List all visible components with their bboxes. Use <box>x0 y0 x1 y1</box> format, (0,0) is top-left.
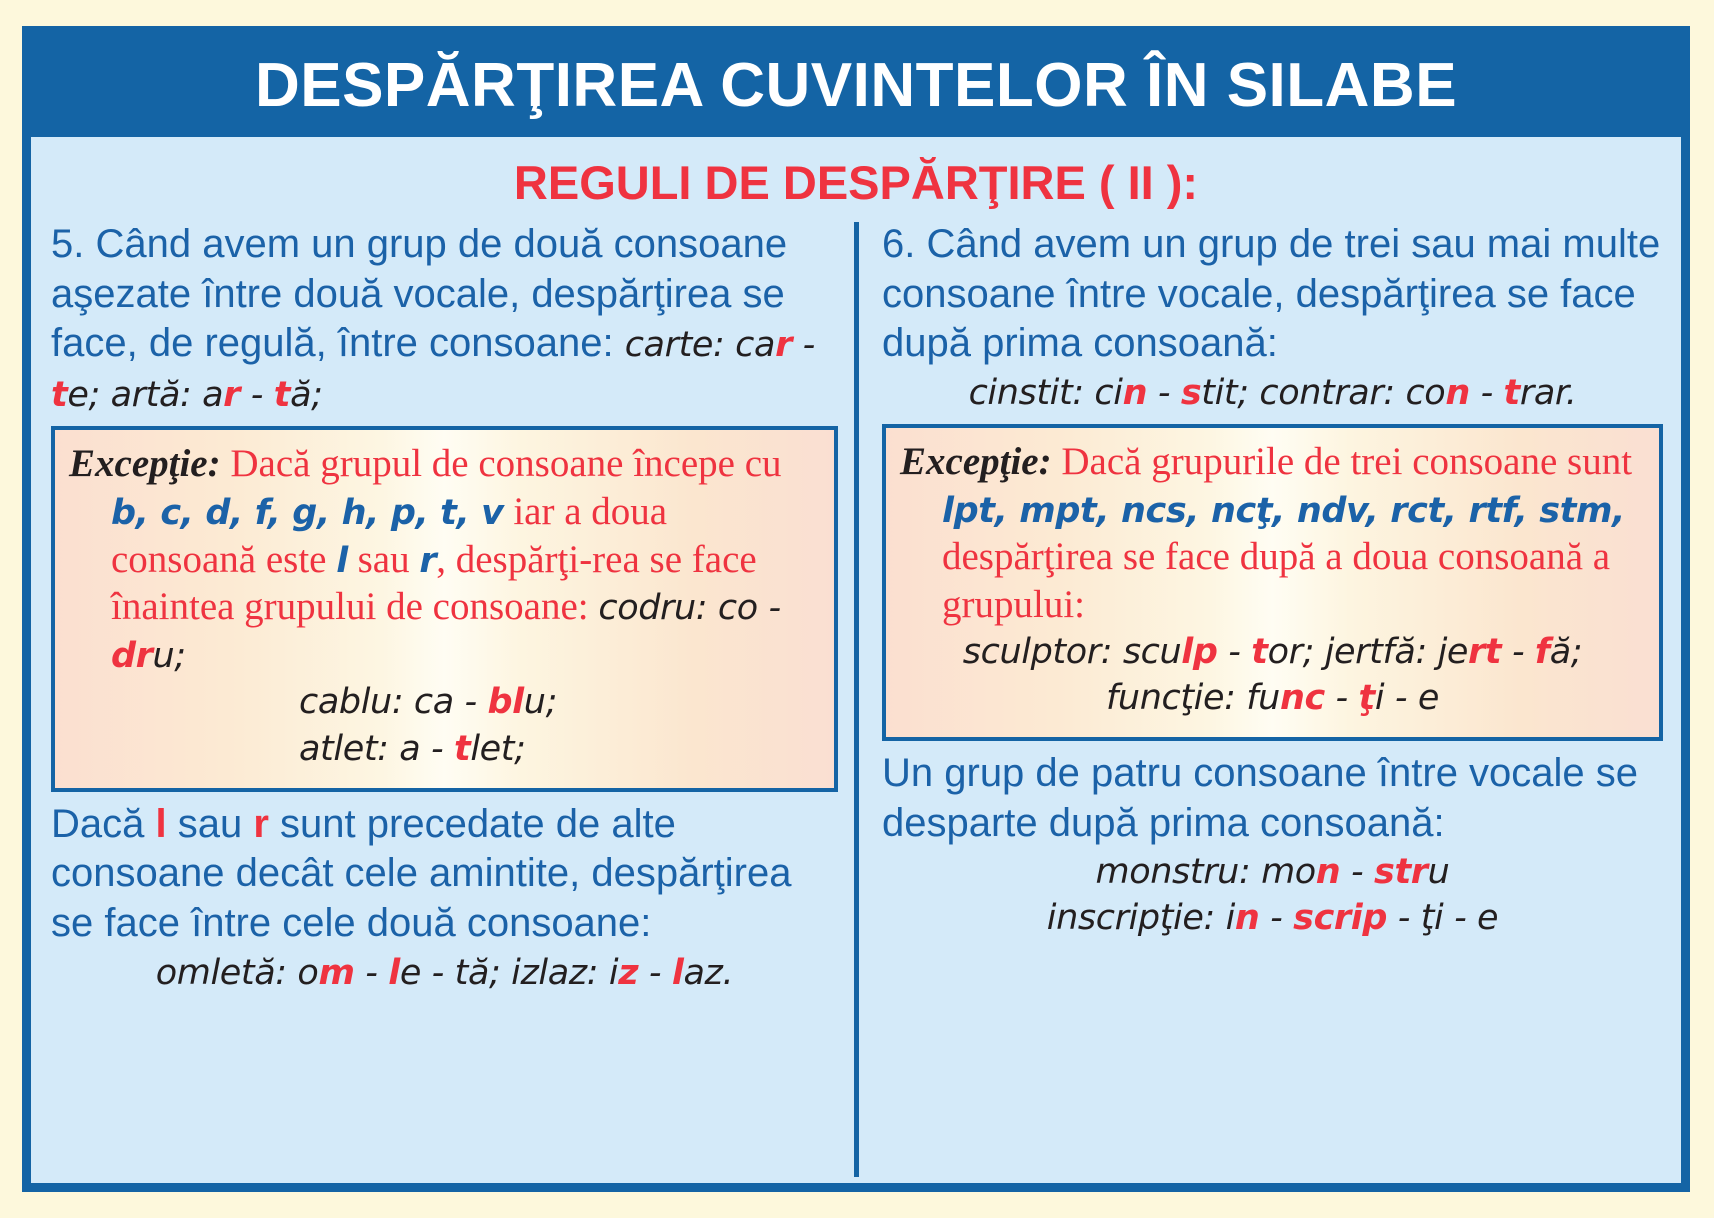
right-exception-example-2: funcţie: func - ţi - e <box>900 675 1645 721</box>
left-exception-example-2: cablu: ca - blu; <box>299 679 820 725</box>
hl-consonant-r: r <box>253 802 269 846</box>
left-exception-example-1: codru: co - dru; <box>111 588 781 676</box>
consonant-l: l <box>336 541 348 581</box>
left-exception-consonants: b, c, d, f, g, h, p, t, v <box>111 493 504 533</box>
poster-frame: DESPĂRŢIREA CUVINTELOR ÎN SILABE REGULI … <box>22 26 1690 1192</box>
left-rule-5-text: 5. Când avem un grup de două consoane aş… <box>51 220 838 418</box>
right-rule-secondary-text: Un grup de patru consoane între vocale s… <box>882 749 1663 848</box>
hl-consonant-l: l <box>156 802 167 846</box>
subtitle: REGULI DE DESPĂRŢIRE ( II ): <box>31 137 1681 216</box>
left-example-inline: carte: car - te; artă: ar - tă; <box>51 325 815 415</box>
left-rule-secondary-text: Dacă l sau r sunt precedate de alte cons… <box>51 800 838 949</box>
right-example-line-1: cinstit: cin - stit; contrar: con - trar… <box>882 371 1663 417</box>
content-columns: 5. Când avem un grup de două consoane aş… <box>31 216 1681 1183</box>
right-exception-text: Excepţie: Dacă grupurile de trei consoan… <box>900 438 1645 628</box>
right-column: 6. Când avem un grup de trei sau mai mul… <box>856 220 1681 1183</box>
right-rule-6-text: 6. Când avem un grup de trei sau mai mul… <box>882 220 1663 369</box>
left-exception-text: Excepţie: Dacă grupul de consoane începe… <box>69 440 820 679</box>
left-example-line-2: omletă: om - le - tă; izlaz: iz - laz. <box>51 951 838 997</box>
left-exception-example-3: atlet: a - tlet; <box>299 726 820 772</box>
right-example-line-3: inscripţie: in - scrip - ţi - e <box>882 896 1663 942</box>
left-exception-box: Excepţie: Dacă grupul de consoane începe… <box>51 426 838 791</box>
right-example-line-2: monstru: mon - stru <box>882 850 1663 896</box>
left-exception-label: Excepţie: <box>69 442 221 485</box>
right-exception-box: Excepţie: Dacă grupurile de trei consoan… <box>882 424 1663 741</box>
right-exception-example-1: sculptor: sculp - tor; jertfă: jert - fă… <box>900 629 1645 675</box>
left-column: 5. Când avem un grup de două consoane aş… <box>31 220 856 1183</box>
right-exception-consonant-groups: lpt, mpt, ncs, ncţ, ndv, rct, rtf, stm, <box>942 491 1625 531</box>
right-exception-label: Excepţie: <box>900 440 1052 483</box>
title-bar: DESPĂRŢIREA CUVINTELOR ÎN SILABE <box>31 35 1681 137</box>
consonant-r: r <box>419 541 436 581</box>
page-title: DESPĂRŢIREA CUVINTELOR ÎN SILABE <box>255 55 1457 117</box>
